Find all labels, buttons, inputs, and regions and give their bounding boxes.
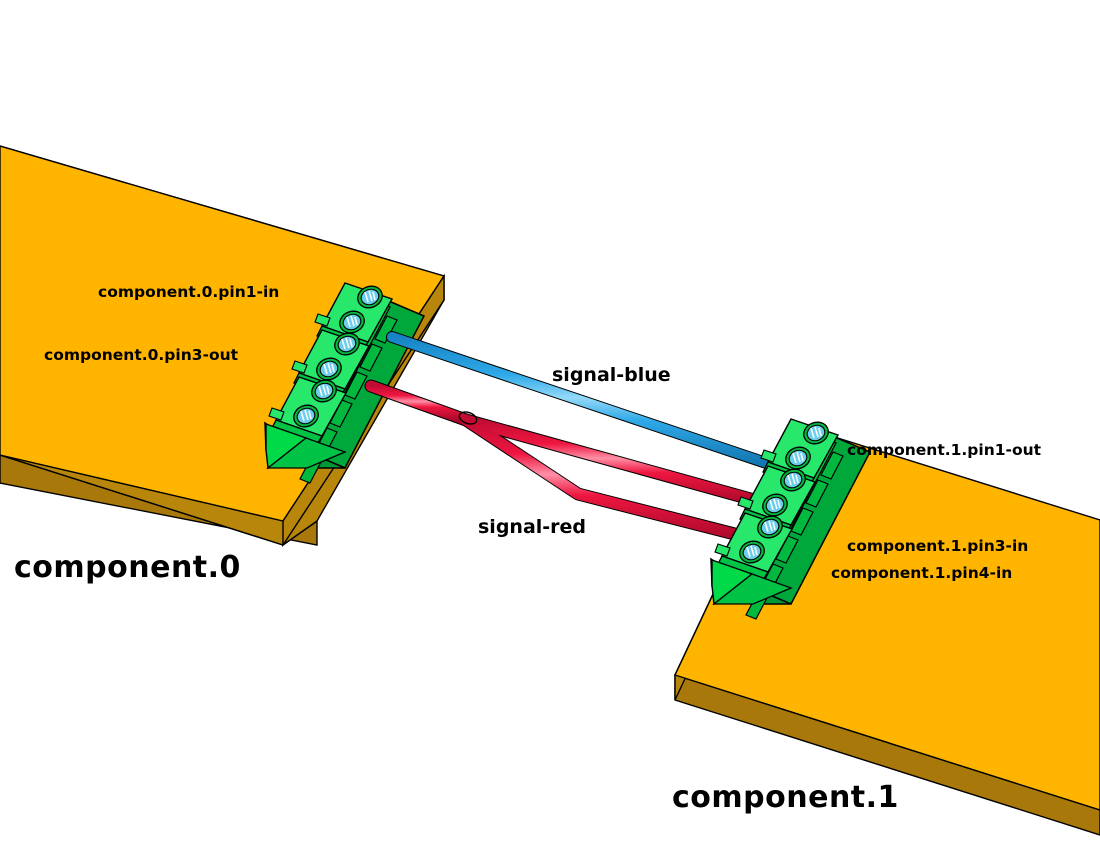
scene-svg	[0, 0, 1100, 850]
pcb-board-component-1[interactable]	[675, 424, 1100, 835]
wire-signal-red[interactable]	[371, 386, 772, 541]
diagram-canvas: component.0.pin1-in component.0.pin3-out…	[0, 0, 1100, 850]
